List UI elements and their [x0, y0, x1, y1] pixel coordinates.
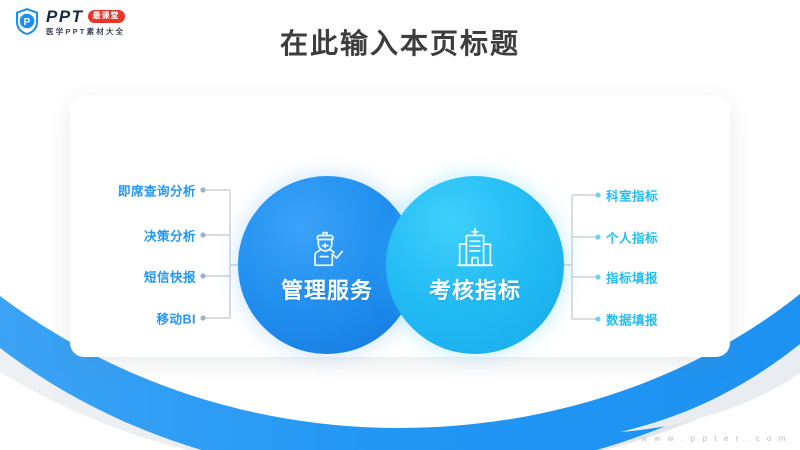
- circle-label: 管理服务: [281, 273, 373, 305]
- right-item-label-1[interactable]: 科室指标: [606, 186, 658, 205]
- left-item-label-1[interactable]: 即席查询分析: [118, 181, 196, 200]
- right-item-label-2[interactable]: 个人指标: [606, 228, 658, 247]
- left-item-label-4[interactable]: 移动BI: [156, 309, 196, 328]
- site-watermark: w w w . p p t e r . c o m: [641, 434, 788, 443]
- right-item-label-4[interactable]: 数据填报: [606, 310, 658, 329]
- slide-canvas: P PPT 最课堂 医学PPT素材大全 在此输入本页标题: [0, 0, 800, 450]
- circle-assessment-index[interactable]: 考核指标: [386, 176, 564, 354]
- doctor-icon: [304, 225, 350, 271]
- brand-badge: 最课堂: [88, 10, 125, 23]
- left-item-label-3[interactable]: 短信快报: [144, 267, 196, 286]
- right-item-label-3[interactable]: 指标填报: [606, 268, 658, 287]
- left-item-label-2[interactable]: 决策分析: [144, 226, 196, 245]
- wave-sliver-path: [620, 344, 800, 432]
- circle-label: 考核指标: [429, 273, 521, 305]
- hospital-building-icon: [452, 225, 498, 271]
- page-title: 在此输入本页标题: [0, 22, 800, 62]
